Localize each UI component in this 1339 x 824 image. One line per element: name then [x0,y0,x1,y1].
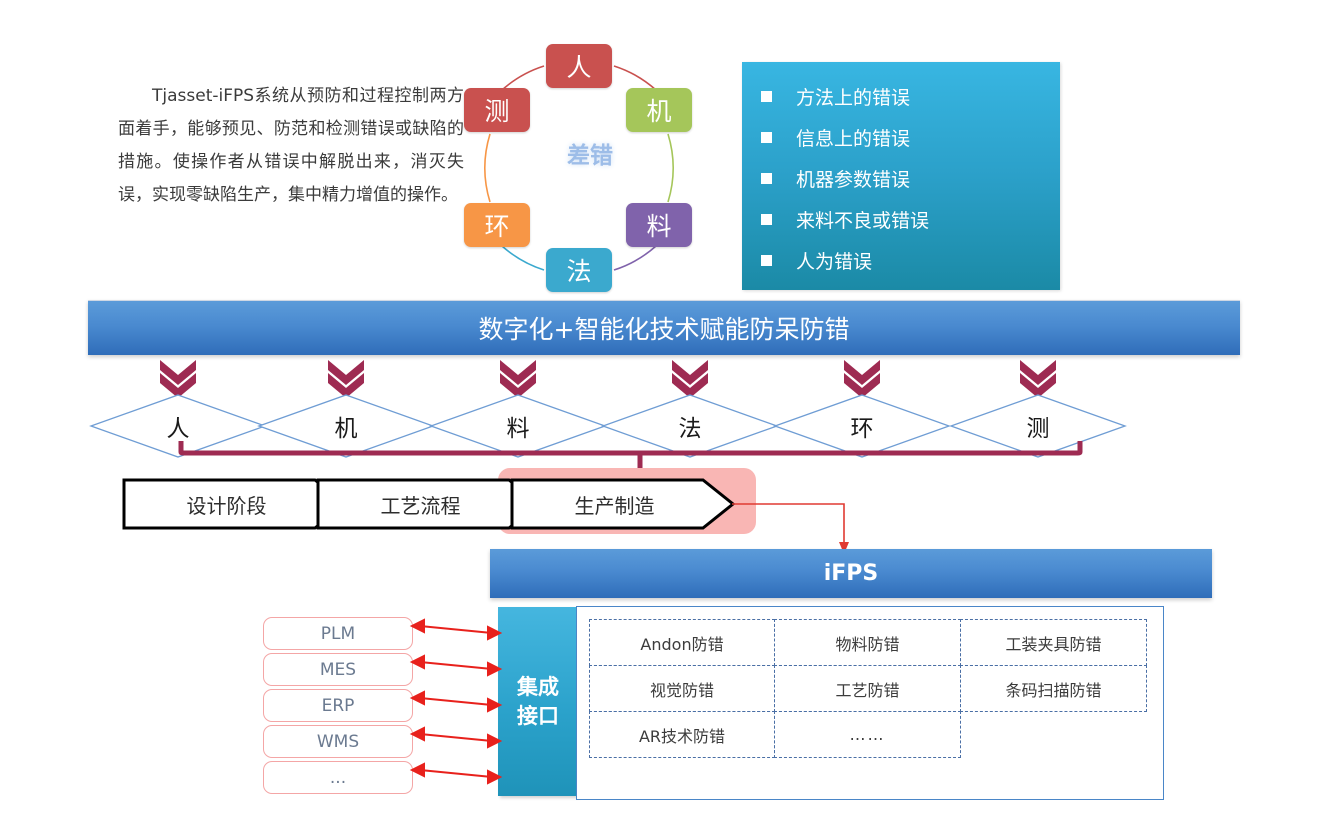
intro-paragraph: Tjasset-iFPS系统从预防和过程控制两方面着手，能够预见、防范和检测错误… [118,80,464,212]
cycle-node-liao[interactable]: 料 [626,203,692,247]
error-type-label: 方法上的错误 [796,83,910,110]
feature-cell-placeholder [960,711,1147,758]
feature-cell-fixture[interactable]: 工装夹具防错 [960,619,1147,666]
square-bullet-icon [761,214,772,225]
integration-label-line1: 集成 [517,675,559,699]
system-box-plm[interactable]: PLM [263,617,413,650]
square-bullet-icon [761,173,772,184]
list-item: 方法上的错误 [742,76,1060,117]
error-type-label: 信息上的错误 [796,124,910,151]
feature-row: AR技术防错 …… [589,711,1149,757]
ifps-feature-box: Andon防错 物料防错 工装夹具防错 视觉防错 工艺防错 条码扫描防错 AR技… [576,606,1164,800]
cycle-node-ren[interactable]: 人 [546,44,612,88]
integration-interface-box: 集成 接口 [498,607,578,796]
double-chevron-down-icon [495,356,541,396]
list-item: 人为错误 [742,240,1060,281]
diagram-canvas: Tjasset-iFPS系统从预防和过程控制两方面着手，能够预见、防范和检测错误… [0,0,1339,824]
double-chevron-down-icon [323,356,369,396]
system-box-erp[interactable]: ERP [263,689,413,722]
square-bullet-icon [761,91,772,102]
ifps-banner: iFPS [490,549,1212,598]
system-box-more[interactable]: ... [263,761,413,794]
feature-grid: Andon防错 物料防错 工装夹具防错 视觉防错 工艺防错 条码扫描防错 AR技… [589,619,1149,757]
cycle-node-ji[interactable]: 机 [626,88,692,132]
process-step-label: 设计阶段 [124,481,329,527]
feature-cell-barcode[interactable]: 条码扫描防错 [960,665,1147,712]
process-flow: 设计阶段 工艺流程 生产制造 [110,468,800,540]
error-type-label: 来料不良或错误 [796,206,929,233]
feature-cell-wuliao[interactable]: 物料防错 [774,619,961,666]
cycle-node-huan[interactable]: 环 [464,203,530,247]
feature-cell-ar[interactable]: AR技术防错 [589,711,775,758]
system-box-mes[interactable]: MES [263,653,413,686]
error-cycle-diagram: 人 机 料 法 环 测 差错 [440,28,740,300]
square-bullet-icon [761,132,772,143]
cycle-center-label: 差错 [440,136,740,170]
double-chevron-down-icon [839,356,885,396]
error-type-label: 人为错误 [796,247,872,274]
process-step-label: 生产制造 [512,481,717,527]
feature-cell-process[interactable]: 工艺防错 [774,665,961,712]
double-chevron-down-icon [155,356,201,396]
system-box-wms[interactable]: WMS [263,725,413,758]
feature-cell-more[interactable]: …… [774,711,961,758]
list-item: 信息上的错误 [742,117,1060,158]
feature-cell-vision[interactable]: 视觉防错 [589,665,775,712]
main-banner: 数字化+智能化技术赋能防呆防错 [88,300,1240,355]
integration-label-line2: 接口 [517,704,559,728]
cycle-node-fa[interactable]: 法 [546,248,612,292]
double-chevron-down-icon [667,356,713,396]
error-types-list: 方法上的错误 信息上的错误 机器参数错误 来料不良或错误 人为错误 [742,62,1060,281]
double-chevron-down-icon [1015,356,1061,396]
integration-label: 集成 接口 [517,673,559,731]
process-to-ifps-connector [700,480,900,560]
list-item: 来料不良或错误 [742,199,1060,240]
square-bullet-icon [761,255,772,266]
system-integration-arrows [408,607,504,799]
feature-row: 视觉防错 工艺防错 条码扫描防错 [589,665,1149,711]
cycle-node-ce[interactable]: 测 [464,88,530,132]
feature-row: Andon防错 物料防错 工装夹具防错 [589,619,1149,665]
process-step-label: 工艺流程 [318,481,523,527]
feature-cell-andon[interactable]: Andon防错 [589,619,775,666]
error-types-panel: 方法上的错误 信息上的错误 机器参数错误 来料不良或错误 人为错误 [742,62,1060,290]
error-type-label: 机器参数错误 [796,165,910,192]
list-item: 机器参数错误 [742,158,1060,199]
